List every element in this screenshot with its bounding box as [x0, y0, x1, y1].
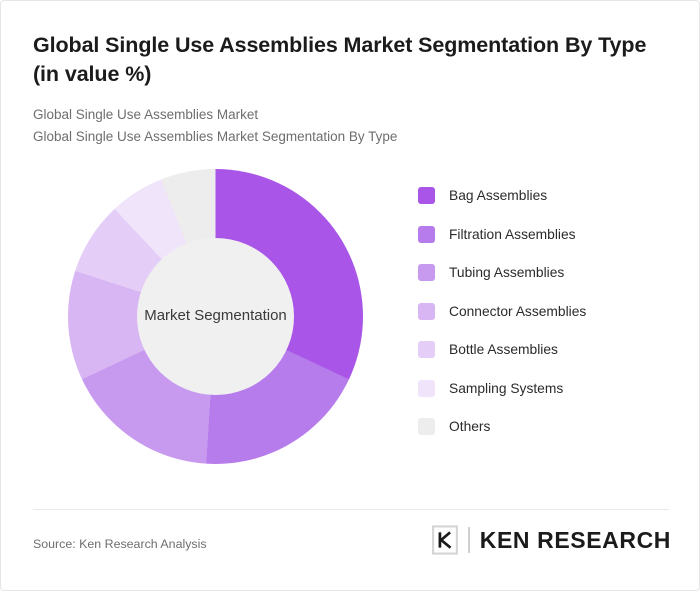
- legend-swatch: [418, 303, 435, 320]
- legend-label: Sampling Systems: [449, 381, 563, 396]
- legend-swatch: [418, 264, 435, 281]
- legend-label: Bottle Assemblies: [449, 342, 558, 357]
- subtitle-line-2: Global Single Use Assemblies Market Segm…: [33, 126, 669, 148]
- footer-divider: [33, 509, 669, 510]
- legend-item[interactable]: Others: [418, 408, 698, 447]
- legend-item[interactable]: Connector Assemblies: [418, 292, 698, 331]
- legend-item[interactable]: Sampling Systems: [418, 369, 698, 408]
- legend-swatch: [418, 380, 435, 397]
- k-monogram-icon: [428, 523, 462, 557]
- source-note: Source: Ken Research Analysis: [33, 537, 207, 551]
- legend-label: Others: [449, 419, 490, 434]
- donut-ring: Market Segmentation: [68, 169, 363, 464]
- chart-card-inner: Global Single Use Assemblies Market Segm…: [1, 1, 700, 591]
- chart-card: Global Single Use Assemblies Market Segm…: [0, 0, 700, 591]
- legend-swatch: [418, 187, 435, 204]
- brand-divider: [468, 527, 470, 553]
- legend-label: Bag Assemblies: [449, 188, 547, 203]
- legend-swatch: [418, 226, 435, 243]
- donut-center-label: Market Segmentation: [144, 306, 287, 326]
- legend-swatch: [418, 418, 435, 435]
- legend-item[interactable]: Bottle Assemblies: [418, 331, 698, 370]
- legend-label: Connector Assemblies: [449, 304, 586, 319]
- legend-label: Tubing Assemblies: [449, 265, 564, 280]
- subtitle-block: Global Single Use Assemblies Market Glob…: [33, 104, 669, 149]
- legend-item[interactable]: Tubing Assemblies: [418, 254, 698, 293]
- legend-swatch: [418, 341, 435, 358]
- donut-center: Market Segmentation: [137, 238, 294, 395]
- legend-item[interactable]: Filtration Assemblies: [418, 215, 698, 254]
- donut-chart: Market Segmentation: [33, 169, 363, 469]
- chart-legend: Bag AssembliesFiltration AssembliesTubin…: [418, 177, 698, 447]
- subtitle-line-1: Global Single Use Assemblies Market: [33, 104, 669, 126]
- legend-item[interactable]: Bag Assemblies: [418, 177, 698, 216]
- brand-name: KEN RESEARCH: [480, 527, 671, 554]
- legend-label: Filtration Assemblies: [449, 227, 576, 242]
- brand-logo: KEN RESEARCH: [428, 523, 671, 557]
- chart-area: Market Segmentation Bag AssembliesFiltra…: [33, 169, 669, 469]
- page-title: Global Single Use Assemblies Market Segm…: [33, 1, 669, 88]
